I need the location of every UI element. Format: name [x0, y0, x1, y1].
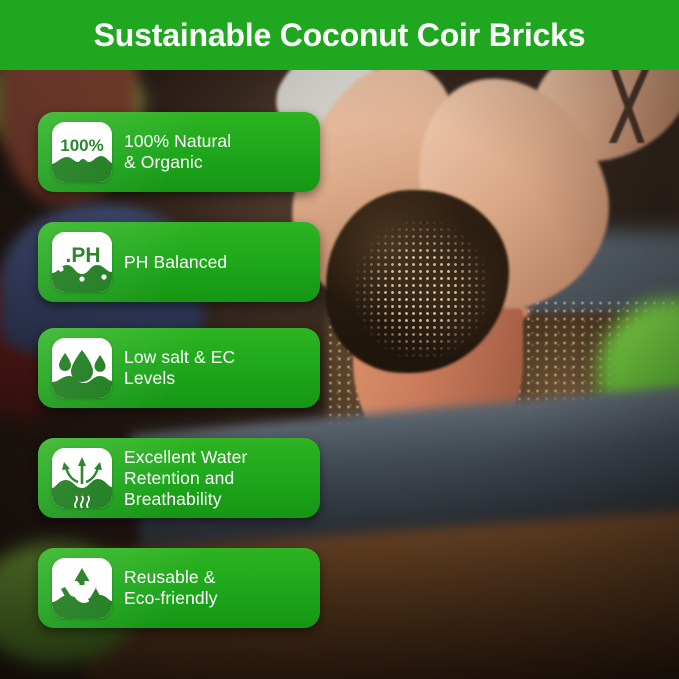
feature-badge-reusable-eco[interactable]: Reusable & Eco-friendly	[38, 548, 320, 628]
feature-badge-water-retention[interactable]: Excellent Water Retention and Breathabil…	[38, 438, 320, 518]
page-title: Sustainable Coconut Coir Bricks	[94, 19, 586, 51]
feature-badge-label: Excellent Water Retention and Breathabil…	[124, 447, 257, 510]
feature-badge-label: Reusable & Eco-friendly	[124, 567, 228, 609]
svg-text:100%: 100%	[60, 136, 103, 155]
feature-badge-low-salt-ec[interactable]: Low salt & EC Levels	[38, 328, 320, 408]
feature-badge-ph-balanced[interactable]: .PH PH Balanced	[38, 222, 320, 302]
feature-badge-label: Low salt & EC Levels	[124, 347, 245, 389]
feature-badge-label: PH Balanced	[124, 252, 237, 273]
recycle-icon	[52, 558, 112, 618]
feature-badge-label: 100% Natural & Organic	[124, 131, 241, 173]
upward-arrows-breathability-icon	[52, 448, 112, 508]
product-infographic: Sustainable Coconut Coir Bricks 100% 100…	[0, 0, 679, 679]
feature-badge-natural-organic[interactable]: 100% 100% Natural & Organic	[38, 112, 320, 192]
hundred-percent-natural-icon: 100%	[52, 122, 112, 182]
water-droplets-icon	[52, 338, 112, 398]
header-bar: Sustainable Coconut Coir Bricks	[0, 0, 679, 70]
svg-text:.PH: .PH	[65, 244, 100, 267]
ph-balanced-icon: .PH	[52, 232, 112, 292]
